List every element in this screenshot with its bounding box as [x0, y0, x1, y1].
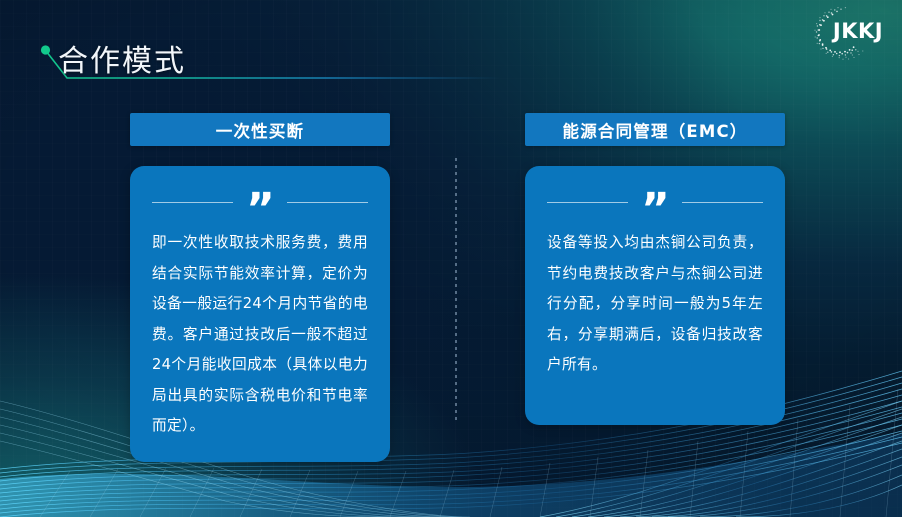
quote-line-left — [152, 202, 233, 203]
page-title-block: 合作模式 — [38, 40, 508, 92]
mode-one-body-text: 即一次性收取技术服务费，费用结合实际节能效率计算，定价为设备一般运行24个月内节… — [152, 228, 368, 442]
quote-line-right — [287, 202, 368, 203]
mode-one-header[interactable]: 一次性买断 — [130, 113, 390, 146]
mode-two-body-text: 设备等投入均由杰锏公司负责，节约电费技改客户与杰锏公司进行分配，分享时间一般为5… — [547, 228, 763, 381]
quote-line-left — [547, 202, 628, 203]
mode-column-one: 一次性买断 ” 即一次性收取技术服务费，费用结合实际节能效率计算，定价为设备一般… — [130, 113, 390, 462]
mode-two-header[interactable]: 能源合同管理（EMC） — [525, 113, 785, 146]
company-logo: JKKJ — [810, 2, 896, 66]
quote-line-right — [682, 202, 763, 203]
mode-two-header-label: 能源合同管理（EMC） — [563, 118, 748, 142]
mode-two-card: ” 设备等投入均由杰锏公司负责，节约电费技改客户与杰锏公司进行分配，分享时间一般… — [525, 166, 785, 425]
column-divider — [455, 158, 457, 424]
mode-one-header-label: 一次性买断 — [216, 118, 305, 142]
logo-wordmark: JKKJ — [831, 19, 883, 43]
slide-canvas: JKKJ 合作模式 一次性买断 — [0, 0, 902, 517]
mode-column-two: 能源合同管理（EMC） ” 设备等投入均由杰锏公司负责，节约电费技改客户与杰锏公… — [525, 113, 785, 425]
quote-decoration-two: ” — [547, 184, 763, 220]
quote-decoration-one: ” — [152, 184, 368, 220]
mode-one-card: ” 即一次性收取技术服务费，费用结合实际节能效率计算，定价为设备一般运行24个月… — [130, 166, 390, 462]
page-title: 合作模式 — [58, 36, 186, 80]
